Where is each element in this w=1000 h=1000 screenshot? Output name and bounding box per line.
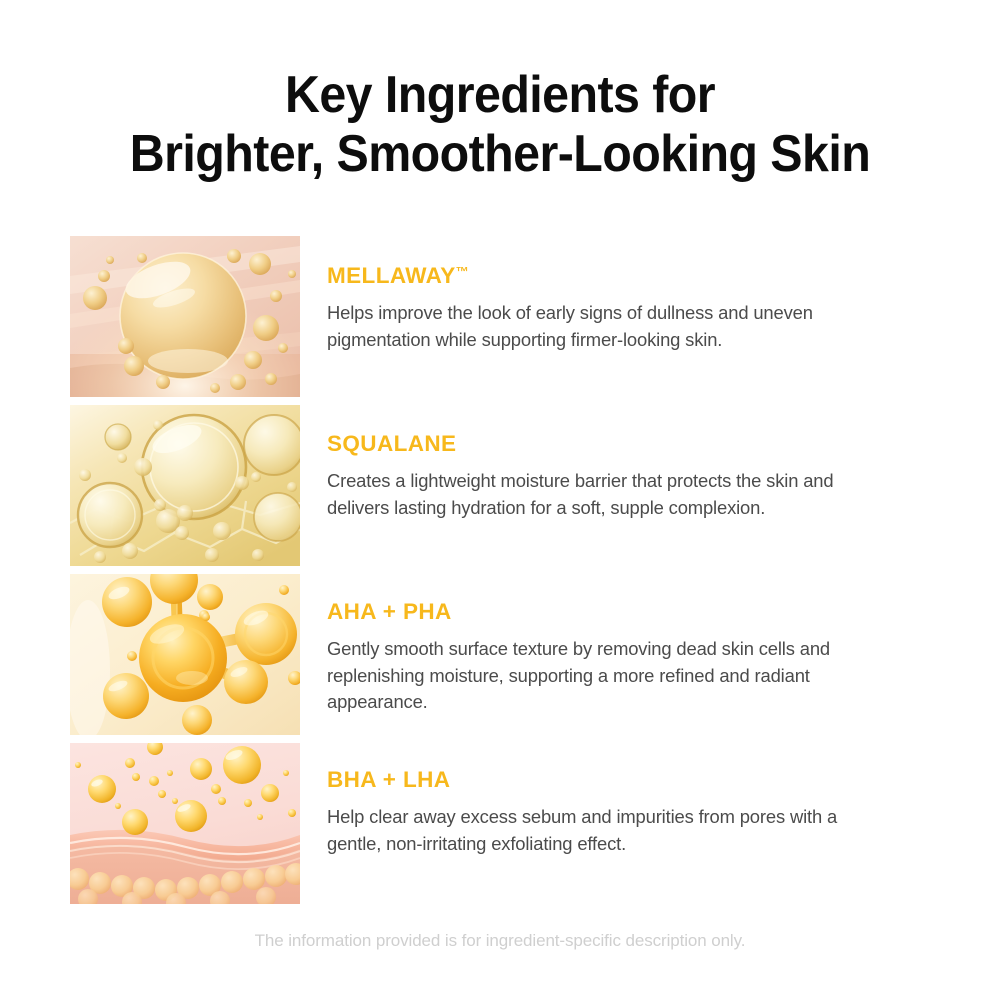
ingredient-description: Gently smooth surface texture by removin… (327, 636, 893, 716)
ingredient-description: Creates a lightweight moisture barrier t… (327, 468, 893, 521)
list-item: SQUALANE Creates a lightweight moisture … (70, 405, 930, 566)
ingredient-name: AHA + PHA (327, 595, 930, 625)
page-title-line-2: Brighter, Smoother-Looking Skin (35, 124, 965, 184)
amber-molecule-spheres-photo (70, 574, 300, 735)
ingredient-copy: AHA + PHA Gently smooth surface texture … (300, 574, 930, 716)
ingredient-name-text: MELLAWAY (327, 263, 456, 288)
ingredient-description: Helps improve the look of early signs of… (327, 300, 893, 353)
ingredient-list: MELLAWAY™ Helps improve the look of earl… (70, 236, 930, 912)
ingredient-copy: MELLAWAY™ Helps improve the look of earl… (300, 236, 930, 353)
skin-layer-cross-section-photo (70, 743, 300, 904)
ingredient-infographic-page: Key Ingredients for Brighter, Smoother-L… (0, 0, 1000, 1000)
list-item: BHA + LHA Help clear away excess sebum a… (70, 743, 930, 904)
ingredient-name: BHA + LHA (327, 763, 930, 793)
ingredient-name-text: AHA + PHA (327, 599, 452, 624)
golden-oil-bubbles-photo (70, 405, 300, 566)
list-item: MELLAWAY™ Helps improve the look of earl… (70, 236, 930, 397)
ingredient-name-text: SQUALANE (327, 431, 456, 456)
page-title: Key Ingredients for Brighter, Smoother-L… (0, 66, 1000, 184)
ingredient-description: Help clear away excess sebum and impurit… (327, 804, 893, 857)
golden-sphere-droplets-photo (70, 236, 300, 397)
ingredient-copy: SQUALANE Creates a lightweight moisture … (300, 405, 930, 521)
page-title-line-1: Key Ingredients for (35, 66, 965, 124)
ingredient-name: SQUALANE (327, 427, 930, 457)
ingredient-name-text: BHA + LHA (327, 767, 450, 792)
disclaimer-text: The information provided is for ingredie… (0, 930, 1000, 952)
ingredient-name: MELLAWAY™ (327, 259, 930, 289)
trademark-icon: ™ (456, 264, 469, 279)
ingredient-copy: BHA + LHA Help clear away excess sebum a… (300, 743, 930, 857)
list-item: AHA + PHA Gently smooth surface texture … (70, 574, 930, 735)
